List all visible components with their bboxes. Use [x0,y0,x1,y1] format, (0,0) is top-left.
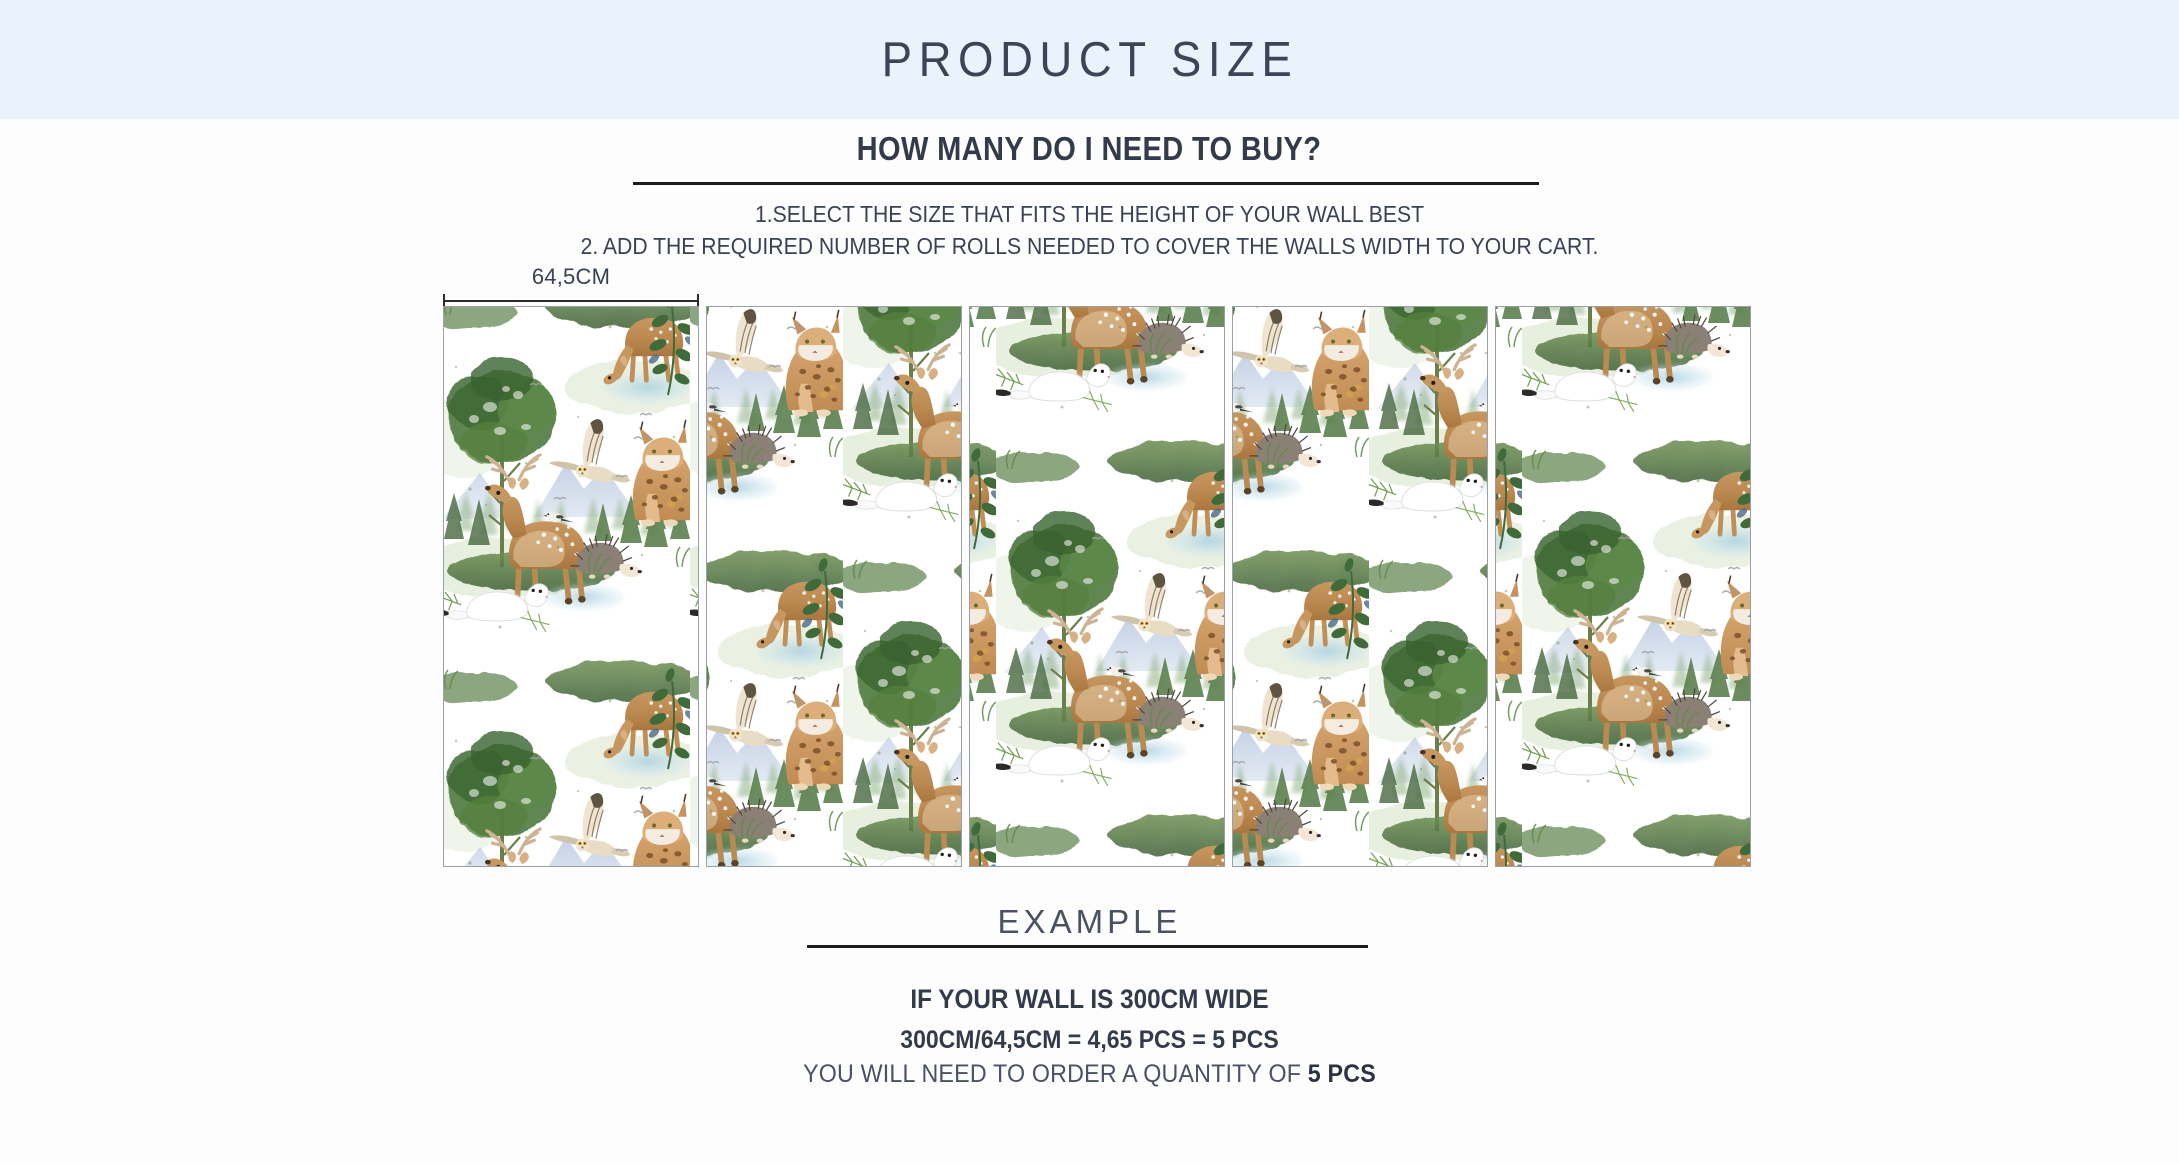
example-heading: EXAMPLE [0,903,2179,941]
wallpaper-pattern-1 [444,307,698,866]
page-header: PRODUCT SIZE [0,0,2179,119]
wallpaper-pattern-2 [707,307,961,866]
heading-divider [633,182,1539,185]
wallpaper-panel[interactable] [1232,306,1488,867]
wallpaper-pattern-4 [1233,307,1487,866]
example-final-prefix: YOU WILL NEED TO ORDER A QUANTITY OF [803,1060,1308,1088]
wallpaper-pattern-3 [970,307,1224,866]
product-size-page: PRODUCT SIZE HOW MANY DO I NEED TO BUY? … [0,0,2179,1165]
example-calculation: IF YOUR WALL IS 300CM WIDE 300CM/64,5CM … [0,978,2179,1060]
width-dimension-label: 64,5CM [443,264,699,290]
instructions-list: 1.SELECT THE SIZE THAT FITS THE HEIGHT O… [0,198,2179,262]
example-wall-width: IF YOUR WALL IS 300CM WIDE [109,978,2070,1020]
example-final-value: 5 PCS [1308,1060,1376,1088]
example-calc-formula: 300CM/64,5CM = 4,65 PCS = 5 PCS [87,1020,2092,1060]
how-many-heading-wrap: HOW MANY DO I NEED TO BUY? [0,130,2179,168]
wallpaper-panel[interactable] [706,306,962,867]
wallpaper-pattern-5 [1496,307,1750,866]
page-title: PRODUCT SIZE [881,32,1298,88]
instruction-item-2: 2. ADD THE REQUIRED NUMBER OF ROLLS NEED… [87,230,2092,262]
wallpaper-panel[interactable] [969,306,1225,867]
instruction-item-1: 1.SELECT THE SIZE THAT FITS THE HEIGHT O… [87,198,2092,230]
wallpaper-panel[interactable] [1495,306,1751,867]
example-divider [807,945,1368,948]
wallpaper-panel-strip [443,306,1736,867]
wallpaper-panel[interactable] [443,306,699,867]
example-final-quantity: YOU WILL NEED TO ORDER A QUANTITY OF 5 P… [76,1060,2102,1089]
how-many-heading: HOW MANY DO I NEED TO BUY? [857,130,1322,168]
dimension-bar [443,300,699,302]
